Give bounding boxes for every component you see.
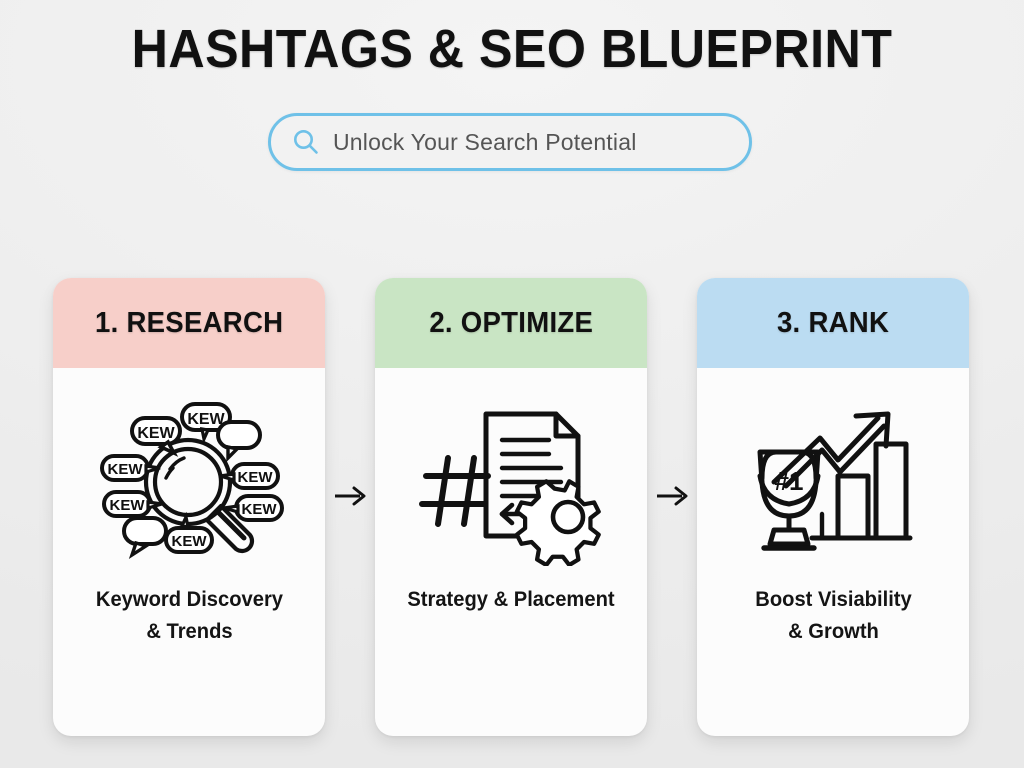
card-research-caption: Keyword Discovery & Trends bbox=[95, 584, 282, 648]
card-research-header: 1. RESEARCH bbox=[53, 278, 325, 368]
page-title: HASHTAGS & SEO BLUEPRINT bbox=[36, 18, 988, 80]
svg-text:KEW: KEW bbox=[108, 461, 144, 478]
card-optimize[interactable]: 2. OPTIMIZE bbox=[375, 278, 647, 736]
card-rank-caption: Boost Visiability & Growth bbox=[755, 584, 911, 648]
search-input[interactable]: Unlock Your Search Potential bbox=[268, 113, 752, 171]
card-research-title: 1. RESEARCH bbox=[95, 307, 283, 340]
svg-text:KEW: KEW bbox=[238, 469, 274, 486]
search-icon bbox=[291, 127, 321, 157]
hashtag-document-gear-icon bbox=[406, 396, 616, 566]
svg-text:KEW: KEW bbox=[172, 533, 208, 550]
card-research-body: KEW KEW KEW KEW KEW KEW KEW Keyword Disc… bbox=[53, 368, 325, 736]
card-optimize-caption: Strategy & Placement bbox=[407, 584, 614, 616]
card-rank-title: 3. RANK bbox=[777, 307, 889, 340]
card-rank-body: #1 Boost Visiability & Growth bbox=[697, 368, 969, 736]
card-rank-header: 3. RANK bbox=[697, 278, 969, 368]
trophy-rank-label: #1 bbox=[775, 466, 804, 496]
card-research[interactable]: 1. RESEARCH bbox=[53, 278, 325, 736]
card-rank[interactable]: 3. RANK bbox=[697, 278, 969, 736]
svg-text:KEW: KEW bbox=[137, 425, 175, 442]
trophy-growth-chart-icon: #1 bbox=[728, 396, 938, 566]
arrow-optimize-to-rank bbox=[652, 478, 692, 514]
search-input-value: Unlock Your Search Potential bbox=[333, 129, 637, 156]
card-optimize-header: 2. OPTIMIZE bbox=[375, 278, 647, 368]
card-optimize-title: 2. OPTIMIZE bbox=[429, 307, 593, 340]
arrow-research-to-optimize bbox=[330, 478, 370, 514]
svg-text:KEW: KEW bbox=[242, 501, 278, 518]
infographic-canvas: HASHTAGS & SEO BLUEPRINT Unlock Your Sea… bbox=[0, 0, 1024, 768]
svg-text:KEW: KEW bbox=[187, 411, 225, 428]
keyword-magnifier-icon: KEW KEW KEW KEW KEW KEW KEW bbox=[84, 396, 294, 566]
svg-text:KEW: KEW bbox=[110, 497, 146, 514]
card-optimize-body: Strategy & Placement bbox=[375, 368, 647, 736]
